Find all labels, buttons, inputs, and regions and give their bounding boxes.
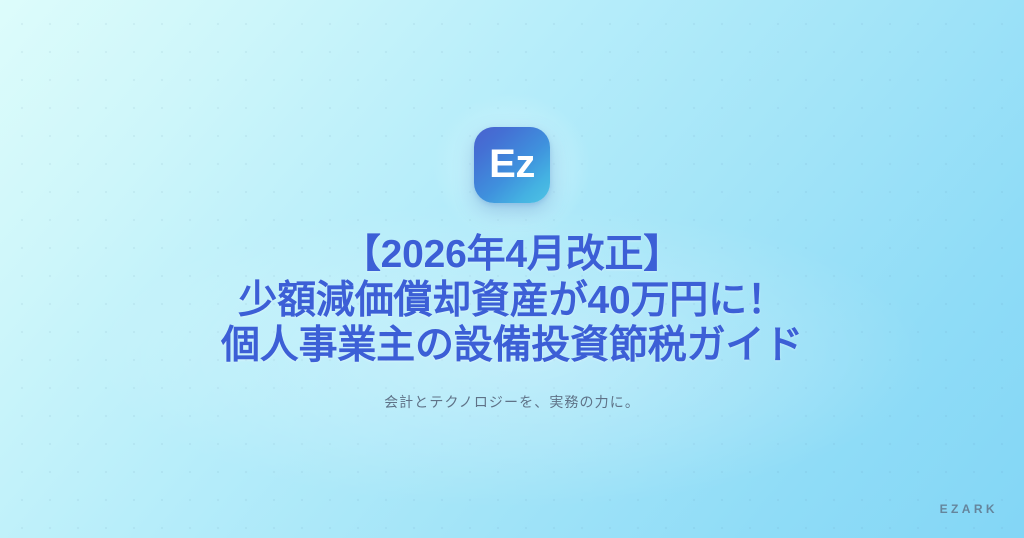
brand-watermark: EZARK <box>940 502 998 516</box>
page-title: 【2026年4月改正】 少額減価償却資産が40万円に！ 個人事業主の設備投資節税… <box>221 232 803 369</box>
brand-tagline: 会計とテクノロジーを、実務の力に。 <box>384 393 640 413</box>
page-title-line-1: 【2026年4月改正】 <box>221 232 803 278</box>
page-title-line-3: 個人事業主の設備投資節税ガイド <box>221 323 803 369</box>
card-content: Ez 【2026年4月改正】 少額減価償却資産が40万円に！ 個人事業主の設備投… <box>0 0 1024 538</box>
logo-tile: Ez <box>474 127 550 203</box>
ezark-logo-icon: Ez <box>489 144 535 184</box>
brand-logo: Ez <box>474 127 550 203</box>
page-title-line-2: 少額減価償却資産が40万円に！ <box>221 278 803 324</box>
og-card: Ez 【2026年4月改正】 少額減価償却資産が40万円に！ 個人事業主の設備投… <box>0 0 1024 538</box>
